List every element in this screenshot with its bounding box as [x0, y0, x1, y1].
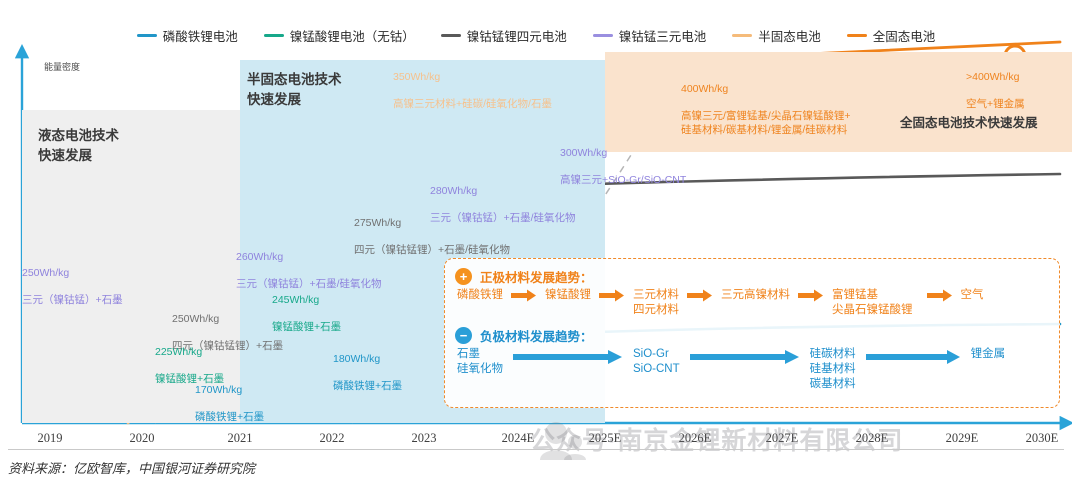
legend-item-semi-solid: 半固态电池	[732, 26, 821, 45]
arrow-right-icon	[927, 289, 953, 307]
anode-title: 负极材料发展趋势：	[480, 326, 593, 345]
x-tick-2022: 2022	[320, 431, 345, 446]
arrow-right-icon	[513, 350, 623, 369]
legend-item-ncm: 镍钴锰三元电池	[593, 26, 707, 45]
x-tick-2025E: 2025E	[589, 431, 622, 446]
anode-step-2: 硅碳材料 硅基材料 碳基材料	[810, 347, 856, 392]
legend-label-semi-solid: 半固态电池	[758, 26, 821, 45]
legend-swatch-semi-solid	[732, 34, 752, 37]
y-axis-label: 能量密度	[44, 60, 80, 73]
anode-step-3: 锂金属	[971, 347, 1006, 362]
x-tick-2024E: 2024E	[502, 431, 535, 446]
x-tick-2028E: 2028E	[856, 431, 889, 446]
chart-legend: 磷酸铁锂电池 镍锰酸锂电池（无钴） 镍钴锰锂四元电池 镍钴锰三元电池 半固态电池…	[0, 22, 1072, 48]
x-tick-2020: 2020	[130, 431, 155, 446]
x-tick-2023: 2023	[412, 431, 437, 446]
cathode-step-4: 富锂锰基 尖晶石镍锰酸锂	[832, 288, 913, 318]
cathode-step-1: 镍锰酸锂	[545, 288, 591, 303]
legend-swatch-ncm	[593, 34, 613, 37]
arrow-right-icon	[599, 289, 625, 307]
legend-item-lnmo: 镍锰酸锂电池（无钴）	[264, 26, 415, 45]
legend-swatch-lnmo	[264, 34, 284, 37]
arrow-right-icon	[690, 350, 800, 369]
arrow-right-icon	[687, 289, 713, 307]
legend-label-lfp: 磷酸铁锂电池	[163, 26, 238, 45]
legend-label-ncm: 镍钴锰三元电池	[619, 26, 707, 45]
legend-swatch-ncma	[441, 34, 461, 37]
anode-step-0: 石墨 硅氧化物	[457, 347, 503, 377]
cathode-step-5: 空气	[961, 288, 984, 303]
cathode-title: 正极材料发展趋势：	[480, 267, 593, 286]
anode-chain: 石墨 硅氧化物 SiO-Gr SiO-CNT 硅碳材料 硅基材料 碳基材料 锂金…	[457, 347, 1049, 392]
legend-label-lnmo: 镍锰酸锂电池（无钴）	[290, 26, 415, 45]
legend-swatch-lfp	[137, 34, 157, 37]
x-tick-2027E: 2027E	[766, 431, 799, 446]
x-tick-2019: 2019	[38, 431, 63, 446]
source-note: 资料来源：亿欧智库，中国银河证券研究院	[8, 458, 255, 477]
cathode-step-0: 磷酸铁锂	[457, 288, 503, 303]
plus-icon: +	[455, 268, 472, 285]
cathode-header: + 正极材料发展趋势：	[455, 267, 1049, 286]
legend-item-ncma: 镍钴锰锂四元电池	[441, 26, 567, 45]
legend-item-lfp: 磷酸铁锂电池	[137, 26, 238, 45]
minus-icon: −	[455, 327, 472, 344]
anode-header: − 负极材料发展趋势：	[455, 326, 1049, 345]
cathode-step-3: 三元高镍材料	[721, 288, 790, 303]
x-tick-2030E: 2030E	[1026, 431, 1059, 446]
band-label-liquid: 液态电池技术 快速发展	[38, 126, 119, 165]
legend-label-all-solid: 全固态电池	[873, 26, 936, 45]
legend-item-all-solid: 全固态电池	[847, 26, 936, 45]
arrow-right-icon	[511, 289, 537, 307]
x-tick-2026E: 2026E	[679, 431, 712, 446]
x-tick-2021: 2021	[228, 431, 253, 446]
cathode-step-2: 三元材料 四元材料	[633, 288, 679, 318]
chart-plot-area: 液态电池技术 快速发展 半固态电池技术 快速发展 全固态电池技术快速发展 能量密…	[0, 48, 1072, 423]
band-label-all-solid: 全固态电池技术快速发展	[900, 114, 1038, 132]
footer-divider	[8, 449, 1064, 450]
materials-trend-box: + 正极材料发展趋势： 磷酸铁锂 镍锰酸锂 三元材料 四元材料 三元高镍材料	[444, 258, 1060, 408]
arrow-right-icon	[866, 350, 961, 369]
cathode-chain: 磷酸铁锂 镍锰酸锂 三元材料 四元材料 三元高镍材料 富锂锰基 尖晶石镍锰酸锂	[457, 288, 1049, 318]
arrow-right-icon	[798, 289, 824, 307]
anode-step-1: SiO-Gr SiO-CNT	[633, 347, 680, 377]
x-tick-2029E: 2029E	[946, 431, 979, 446]
band-label-semi-solid: 半固态电池技术 快速发展	[247, 70, 342, 109]
legend-swatch-all-solid	[847, 34, 867, 37]
legend-label-ncma: 镍钴锰锂四元电池	[467, 26, 567, 45]
band-all-solid	[605, 52, 1072, 152]
